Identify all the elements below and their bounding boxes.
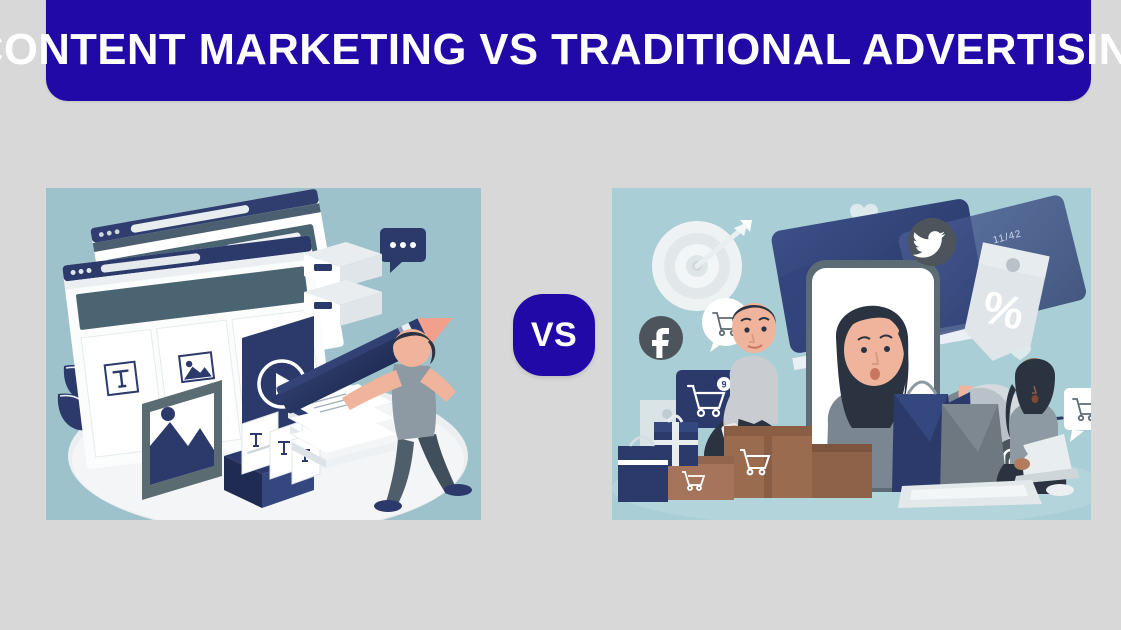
shopping-bag-icon — [618, 437, 668, 502]
versus-badge: VS — [513, 294, 595, 376]
versus-label: VS — [531, 316, 577, 355]
slide-canvas: CONTENT MARKETING VS TRADITIONAL ADVERTI… — [0, 0, 1121, 630]
content-marketing-illustration — [46, 188, 481, 520]
panel-traditional-advertising: BANK 4356 CARD HOLDER 11/42 — [612, 188, 1091, 520]
svg-text:9: 9 — [721, 380, 726, 390]
traditional-advertising-illustration: BANK 4356 CARD HOLDER 11/42 — [612, 188, 1091, 520]
title-banner: CONTENT MARKETING VS TRADITIONAL ADVERTI… — [46, 0, 1091, 101]
facebook-icon — [639, 316, 683, 360]
panel-content-marketing — [46, 188, 481, 520]
twitter-icon — [908, 218, 956, 266]
page-title: CONTENT MARKETING VS TRADITIONAL ADVERTI… — [0, 24, 1121, 72]
